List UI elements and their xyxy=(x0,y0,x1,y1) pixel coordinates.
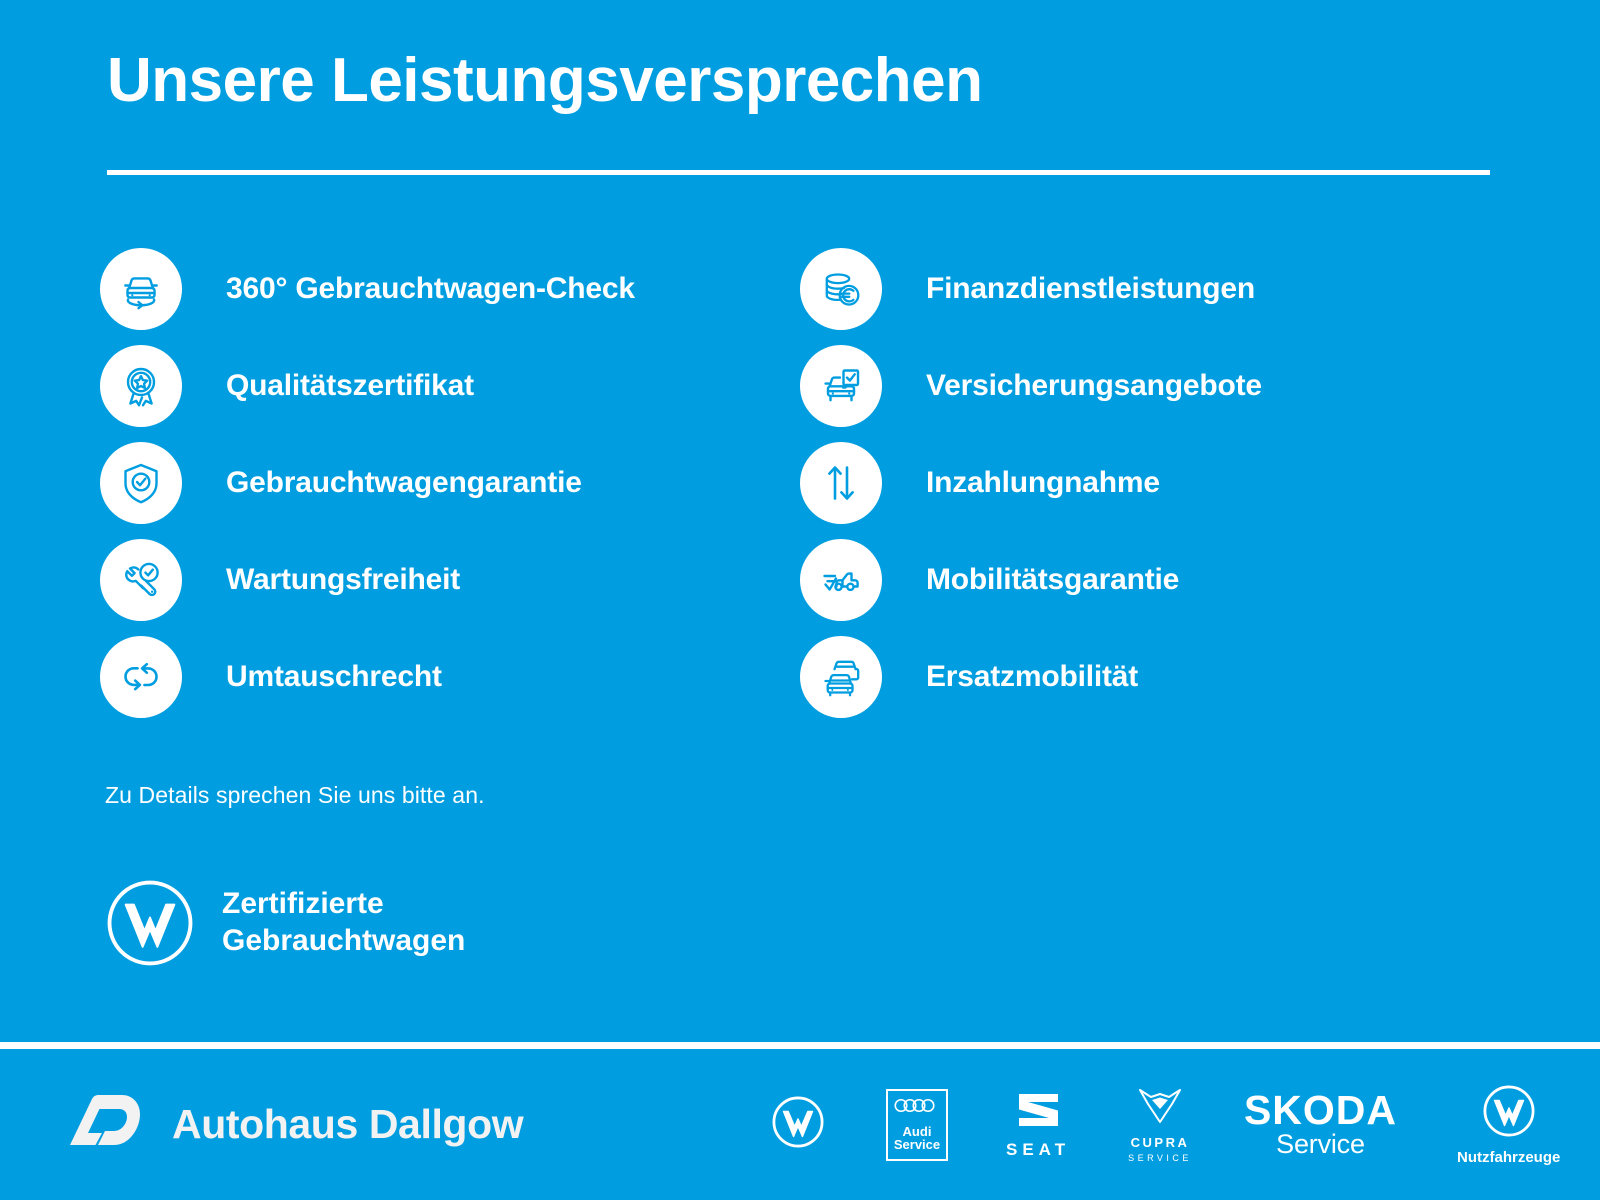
benefit-item-umtauschrecht[interactable]: Umtauschrecht xyxy=(100,636,800,718)
dealer-name: Autohaus Dallgow xyxy=(172,1101,523,1148)
benefit-label: Inzahlungnahme xyxy=(926,466,1160,500)
title-divider xyxy=(107,170,1490,175)
shield-check-icon xyxy=(100,442,182,524)
cupra-icon xyxy=(1137,1087,1183,1130)
vw-logo-icon xyxy=(770,1094,826,1155)
brand-logo-vw-nutzfahrzeuge: Nutzfahrzeuge xyxy=(1457,1083,1560,1166)
brand-logos: Audi Service SEAT CUPRA SER xyxy=(760,1049,1600,1200)
seat-s-icon xyxy=(1015,1090,1062,1135)
benefit-item-qualitaetszertifikat[interactable]: Qualitätszertifikat xyxy=(100,345,800,427)
award-rosette-icon xyxy=(100,345,182,427)
vw-certified-text: Zertifizierte Gebrauchtwagen xyxy=(222,886,465,959)
benefit-label: Versicherungsangebote xyxy=(926,369,1262,403)
benefit-item-mobilitaetsgarantie[interactable]: Mobilitätsgarantie xyxy=(800,539,1500,621)
benefit-item-inzahlungnahme[interactable]: Inzahlungnahme xyxy=(800,442,1500,524)
dealer-branding[interactable]: Autohaus Dallgow xyxy=(68,1093,523,1156)
details-note: Zu Details sprechen Sie uns bitte an. xyxy=(105,782,485,809)
brand-logo-audi: Audi Service xyxy=(886,1089,948,1161)
benefit-label: Finanzdienstleistungen xyxy=(926,272,1255,306)
brand-logo-skoda: SKODA Service xyxy=(1244,1090,1397,1160)
skoda-wordmark: SKODA xyxy=(1244,1090,1397,1131)
brand-logo-cupra: CUPRA SERVICE xyxy=(1128,1087,1192,1163)
cupra-wordmark: CUPRA xyxy=(1131,1135,1190,1150)
car-checkbox-icon xyxy=(800,345,882,427)
benefit-label: 360° Gebrauchtwagen-Check xyxy=(226,272,635,306)
benefit-item-versicherungsangebote[interactable]: Versicherungsangebote xyxy=(800,345,1500,427)
benefit-label: Gebrauchtwagengarantie xyxy=(226,466,582,500)
audi-service-box: Audi Service xyxy=(886,1089,948,1161)
wrench-check-icon xyxy=(100,539,182,621)
audi-service-label: Audi Service xyxy=(894,1125,940,1152)
vw-logo-icon xyxy=(104,877,196,969)
coins-euro-icon xyxy=(800,248,882,330)
benefits-column-right: Finanzdienstleistungen Versich xyxy=(800,248,1500,733)
page-title: Unsere Leistungsversprechen xyxy=(107,48,983,113)
benefit-item-wartungsfreiheit[interactable]: Wartungsfreiheit xyxy=(100,539,800,621)
skoda-service-label: Service xyxy=(1276,1129,1365,1160)
benefit-item-finanzdienstleistungen[interactable]: Finanzdienstleistungen xyxy=(800,248,1500,330)
cupra-service-label: SERVICE xyxy=(1128,1153,1192,1163)
car-motion-check-icon xyxy=(800,539,882,621)
vw-certified-line1: Zertifizierte xyxy=(222,887,384,920)
brand-logo-vw xyxy=(770,1094,826,1155)
benefit-item-ersatzmobilitaet[interactable]: Ersatzmobilität xyxy=(800,636,1500,718)
footer-divider xyxy=(0,1042,1600,1049)
vw-logo-icon xyxy=(1481,1083,1537,1144)
benefit-item-gebrauchtwagengarantie[interactable]: Gebrauchtwagengarantie xyxy=(100,442,800,524)
ad-monogram-icon xyxy=(68,1093,142,1156)
audi-rings-icon xyxy=(894,1098,941,1118)
benefits-column-left: 360° Gebrauchtwagen-Check Qualitätszerti… xyxy=(100,248,800,733)
up-down-arrows-icon xyxy=(800,442,882,524)
vw-certified-block: Zertifizierte Gebrauchtwagen xyxy=(104,877,465,969)
benefit-label: Ersatzmobilität xyxy=(926,660,1138,694)
car-360-check-icon xyxy=(100,248,182,330)
seat-wordmark: SEAT xyxy=(1006,1140,1070,1160)
benefit-label: Qualitätszertifikat xyxy=(226,369,474,403)
benefit-item-360-check[interactable]: 360° Gebrauchtwagen-Check xyxy=(100,248,800,330)
vw-certified-line2: Gebrauchtwagen xyxy=(222,924,465,957)
benefit-label: Wartungsfreiheit xyxy=(226,563,460,597)
benefit-label: Mobilitätsgarantie xyxy=(926,563,1179,597)
footer: Autohaus Dallgow xyxy=(0,1049,1600,1200)
audi-sub: Service xyxy=(894,1137,940,1152)
two-cars-icon xyxy=(800,636,882,718)
brand-logo-seat: SEAT xyxy=(1006,1090,1070,1160)
benefit-label: Umtauschrecht xyxy=(226,660,442,694)
exchange-arrows-icon xyxy=(100,636,182,718)
nutzfahrzeuge-label: Nutzfahrzeuge xyxy=(1457,1149,1560,1166)
